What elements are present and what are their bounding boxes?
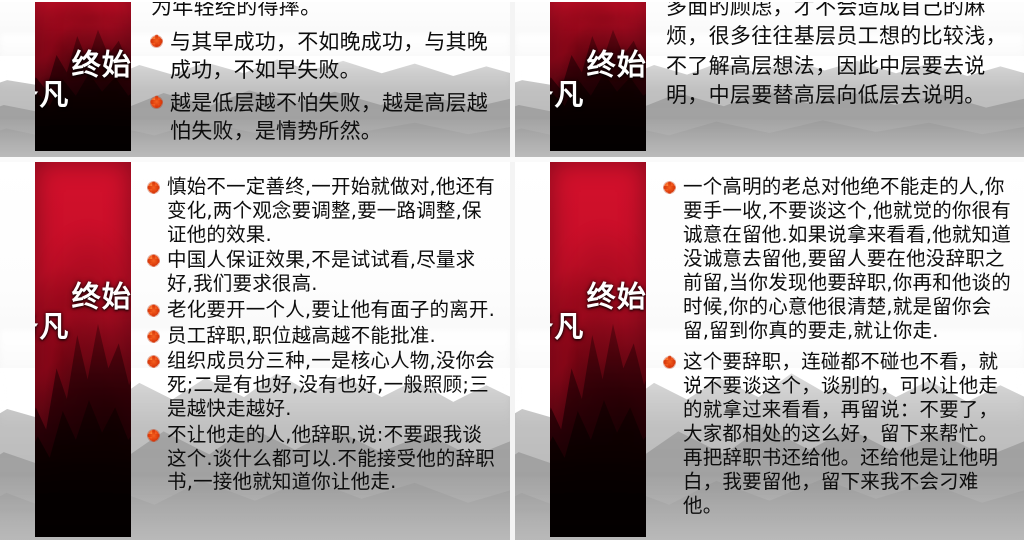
list-item-text: 老化要开一个人,要让他有面子的离开.	[167, 298, 495, 321]
chapter-title-column-primary: 十一、 事 求 始 终	[69, 49, 131, 145]
banner-haze	[550, 0, 646, 23]
chapter-title-vertical: 十一、 事 求 始 终 凡 务 善 善	[550, 49, 646, 145]
list-item: 慎始不一定善终,一开始就做对,他还有变化,两个观念要调整,要一路调整,保证他的效…	[148, 175, 498, 246]
bullet-list: 一个高明的老总对他绝不能走的人,你要手一收,不要谈这个,他就觉的你很有诚意在留他…	[664, 175, 1012, 518]
slide-bottom-right[interactable]: 十一、 事 求 始 终 凡 务 善 善 一个高明的老总对他绝不能走的人,你要手一…	[515, 161, 1024, 544]
chapter-title-column-secondary: 凡 务 善 善	[550, 49, 582, 145]
chapter-title-vertical: 十一、 事 求 始 终 凡 务 善 善	[35, 49, 131, 145]
slide-body: 慎始不一定善终,一开始就做对,他还有变化,两个观念要调整,要一路调整,保证他的效…	[148, 175, 498, 496]
red-title-banner: 十一、 事 求 始 终 凡 务 善 善	[550, 161, 646, 537]
list-item: 越是低层越不怕失败，越是高层越怕失败，是情势所然。	[151, 89, 496, 146]
red-title-banner: 十一、 事 求 始 终 凡 务 善 善	[550, 0, 646, 151]
bullet-list: 与其早成功，不如晚成功，与其晚成功，不如早失败。 越是低层越不怕失败，越是高层越…	[151, 28, 496, 146]
list-item-text: 不让他走的人,他辞职,说:不要跟我谈这个.谈什么都可以.不能接受他的辞职书,一接…	[167, 423, 495, 494]
slide-bottom-left[interactable]: 十一、 事 求 始 终 凡 务 善 善 慎始不一定善终,一开始就做对,他还有变化…	[0, 161, 510, 544]
slide-top-right[interactable]: 十一、 事 求 始 终 凡 务 善 善 多面的顾虑，才不会造成自己的麻烦，很多往…	[515, 0, 1024, 158]
list-item-text: 员工辞职,职位越高越不能批准.	[167, 324, 436, 347]
red-title-banner: 十一、 事 求 始 终 凡 务 善 善	[35, 161, 131, 537]
flower-bullet-icon	[148, 356, 159, 367]
list-item-text: 慎始不一定善终,一开始就做对,他还有变化,两个观念要调整,要一路调整,保证他的效…	[167, 175, 495, 246]
list-item-text: 越是低层越不怕失败，越是高层越怕失败，是情势所然。	[170, 91, 488, 144]
flower-bullet-icon	[151, 97, 162, 108]
list-item: 老化要开一个人,要让他有面子的离开.	[148, 298, 498, 322]
banner-haze	[35, 0, 131, 23]
deck-edge-top	[0, 0, 1024, 2]
list-item: 组织成员分三种,一是核心人物,没你会死;二是有也好,没有也好,一般照顾;三是越快…	[148, 349, 498, 420]
lead-paragraph: 多面的顾虑，才不会造成自己的麻烦，很多往往基层员工想的比较浅，不了解高层想法，因…	[666, 0, 1010, 111]
slide-deck: 十一、 事 求 始 终 凡 务 善 善 为年轻经的得摔。 与其早成功，不如晚成功…	[0, 0, 1024, 544]
chapter-title-column-secondary: 凡 务 善 善	[550, 281, 582, 377]
slide-body: 多面的顾虑，才不会造成自己的麻烦，很多往往基层员工想的比较浅，不了解高层想法，因…	[666, 0, 1010, 117]
chapter-title-column-primary: 十一、 事 求 始 终	[584, 49, 646, 145]
chapter-title-column-primary: 十一、 事 求 始 终	[69, 281, 131, 377]
chapter-title-vertical: 十一、 事 求 始 终 凡 务 善 善	[35, 281, 131, 377]
bullet-list: 慎始不一定善终,一开始就做对,他还有变化,两个观念要调整,要一路调整,保证他的效…	[148, 175, 498, 494]
chapter-title-vertical: 十一、 事 求 始 终 凡 务 善 善	[550, 281, 646, 377]
list-item: 与其早成功，不如晚成功，与其晚成功，不如早失败。	[151, 28, 496, 85]
chapter-title-column-secondary: 凡 务 善 善	[35, 49, 67, 145]
deck-edge-bottom	[0, 540, 1024, 544]
list-item: 这个要辞职，连碰都不碰也不看，就说不要谈这个，谈别的，可以让他走的就拿过来看看，…	[664, 350, 1012, 519]
list-item: 员工辞职,职位越高越不能批准.	[148, 324, 498, 348]
slide-body: 为年轻经的得摔。 与其早成功，不如晚成功，与其晚成功，不如早失败。 越是低层越不…	[151, 0, 496, 150]
flower-bullet-icon	[148, 430, 159, 441]
slide-gutter-vertical	[510, 0, 515, 544]
chapter-title-column-primary: 十一、 事 求 始 终	[584, 281, 646, 377]
list-item-text: 与其早成功，不如晚成功，与其晚成功，不如早失败。	[170, 30, 488, 83]
slide-gutter-horizontal	[0, 157, 1024, 162]
red-title-banner: 十一、 事 求 始 终 凡 务 善 善	[35, 0, 131, 151]
flower-bullet-icon	[151, 36, 162, 47]
lead-paragraph: 为年轻经的得摔。	[151, 0, 496, 22]
list-item-text: 这个要辞职，连碰都不碰也不看，就说不要谈这个，谈别的，可以让他走的就拿过来看看，…	[683, 350, 998, 517]
flower-bullet-icon	[664, 182, 675, 193]
chapter-title-column-secondary: 凡 务 善 善	[35, 281, 67, 377]
list-item-text: 中国人保证效果,不是试试看,尽量求好,我们要求很高.	[167, 248, 475, 295]
slide-top-left[interactable]: 十一、 事 求 始 终 凡 务 善 善 为年轻经的得摔。 与其早成功，不如晚成功…	[0, 0, 510, 158]
slide-body: 一个高明的老总对他绝不能走的人,你要手一收,不要谈这个,他就觉的你很有诚意在留他…	[664, 175, 1012, 524]
flower-bullet-icon	[148, 331, 159, 342]
list-item-text: 一个高明的老总对他绝不能走的人,你要手一收,不要谈这个,他就觉的你很有诚意在留他…	[683, 175, 1011, 342]
list-item: 一个高明的老总对他绝不能走的人,你要手一收,不要谈这个,他就觉的你很有诚意在留他…	[664, 175, 1012, 344]
list-item: 中国人保证效果,不是试试看,尽量求好,我们要求很高.	[148, 248, 498, 296]
list-item-text: 组织成员分三种,一是核心人物,没你会死;二是有也好,没有也好,一般照顾;三是越快…	[167, 349, 495, 420]
flower-bullet-icon	[148, 305, 159, 316]
flower-bullet-icon	[148, 182, 159, 193]
list-item: 不让他走的人,他辞职,说:不要跟我谈这个.谈什么都可以.不能接受他的辞职书,一接…	[148, 423, 498, 494]
flower-bullet-icon	[148, 255, 159, 266]
flower-bullet-icon	[664, 357, 675, 368]
